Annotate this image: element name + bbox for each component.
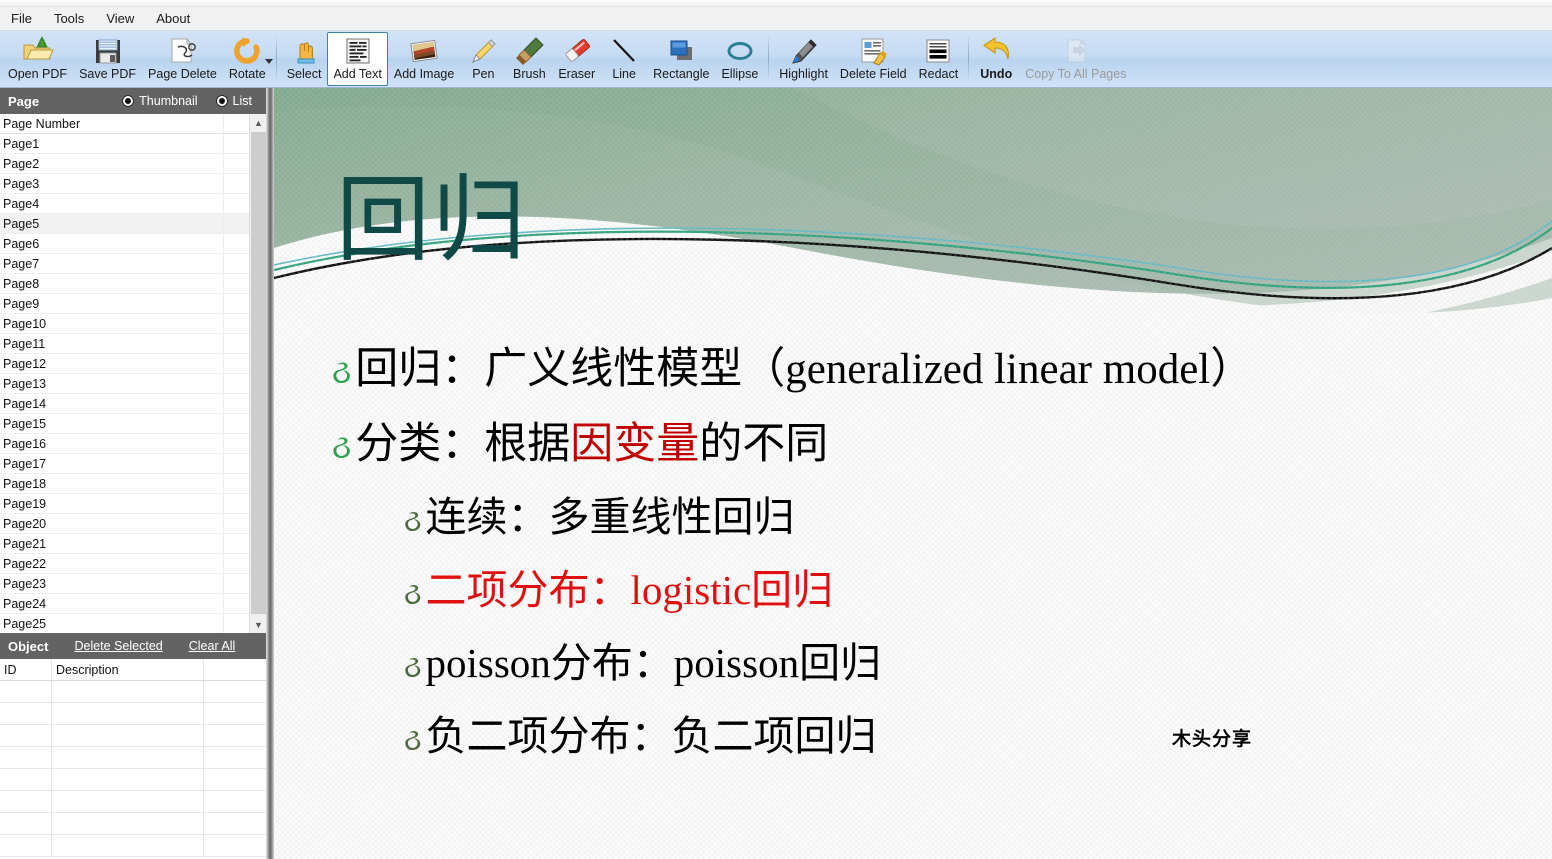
- page-list-cell: Page16: [3, 437, 46, 451]
- slide-bullet-line: ઠ二项分布：logistic回归: [332, 556, 1552, 629]
- page-list-cell-empty: [223, 594, 249, 614]
- toolbar-label: Page Delete: [148, 67, 217, 81]
- toolbar-label: Copy To All Pages: [1025, 67, 1126, 81]
- toolbar-button-rotate[interactable]: Rotate: [223, 32, 272, 86]
- toolbar-button-copy-to-all-pages: Copy To All Pages: [1019, 32, 1132, 86]
- page-list-cell-empty: [223, 534, 249, 554]
- page-list-cell: Page6: [3, 237, 39, 251]
- page-delete-icon: [165, 35, 199, 67]
- toolbar-label: Eraser: [558, 67, 595, 81]
- add-image-icon: [407, 35, 441, 67]
- object-table-cell: [52, 747, 204, 769]
- object-table-cell: [204, 725, 266, 747]
- object-table-cell: [52, 703, 204, 725]
- left-panel: Page Thumbnail List Page NumberPage1Page…: [0, 88, 266, 859]
- window-title-bar: [0, 0, 1552, 7]
- delete-field-icon: [856, 35, 890, 67]
- pen-icon: [466, 35, 500, 67]
- menu-item-view[interactable]: View: [95, 9, 145, 28]
- page-list-item-page5[interactable]: Page5: [0, 214, 249, 234]
- object-table-header-cell: ID: [0, 659, 52, 681]
- rotate-icon: [230, 35, 264, 67]
- page-list-cell: Page20: [3, 517, 46, 531]
- page-list-cell: Page13: [3, 377, 46, 391]
- bullet-ornament-icon: ઠ: [404, 487, 421, 556]
- object-panel-header: Object Delete Selected Clear All: [0, 633, 266, 659]
- object-table-row[interactable]: [0, 791, 266, 813]
- page-list-cell: Page19: [3, 497, 46, 511]
- object-table-header-cell: [204, 659, 266, 681]
- object-table-cell: [0, 791, 52, 813]
- slide-bullet-text: 因变量: [570, 408, 699, 481]
- slide-bullet-line: ઠ分类：根据因变量的不同: [332, 408, 1552, 483]
- page-list-item-page23[interactable]: Page23: [0, 574, 249, 594]
- line-icon: [607, 35, 641, 67]
- page-list-cell-empty: [223, 554, 249, 574]
- rectangle-icon: [664, 35, 698, 67]
- watermark-text: 木头分享: [1172, 724, 1252, 751]
- toolbar-button-select[interactable]: Select: [281, 32, 328, 86]
- object-table-cell: [52, 835, 204, 857]
- slide-body-list: ઠ回归：广义线性模型（generalized linear model）ઠ分类：…: [332, 333, 1552, 775]
- menu-item-about[interactable]: About: [145, 9, 201, 28]
- page-list-item-page25[interactable]: Page25: [0, 614, 249, 633]
- page-list-cell: Page10: [3, 317, 46, 331]
- object-table-cell: [52, 681, 204, 703]
- page-list-cell: Page23: [3, 577, 46, 591]
- page-list-cell-empty: [223, 274, 249, 294]
- page-list-cell: Page11: [3, 337, 45, 351]
- toolbar-button-page-delete[interactable]: Page Delete: [142, 32, 223, 86]
- page-list-cell: Page8: [3, 277, 39, 291]
- page-list-cell-empty: [223, 134, 249, 154]
- object-table-row[interactable]: [0, 703, 266, 725]
- highlighter-icon: [787, 35, 821, 67]
- page-panel-title: Page: [8, 94, 39, 109]
- object-table-cell: [52, 725, 204, 747]
- toolbar-button-highlight[interactable]: Highlight: [773, 32, 834, 86]
- bullet-ornament-icon: ઠ: [404, 633, 421, 702]
- toolbar-button-ellipse[interactable]: Ellipse: [715, 32, 764, 86]
- bullet-ornament-icon: ઠ: [332, 410, 351, 483]
- page-list-cell: Page18: [3, 477, 46, 491]
- scroll-up-icon[interactable]: ▲: [250, 114, 266, 131]
- page-list-cell: Page1: [3, 137, 39, 151]
- object-table-cell: [204, 813, 266, 835]
- toolbar-label: Add Image: [394, 67, 454, 81]
- copy-pages-icon: [1059, 35, 1093, 67]
- toolbar-button-undo[interactable]: Undo: [973, 32, 1019, 86]
- toolbar-label: Select: [287, 67, 322, 81]
- page-list-item-page13[interactable]: Page13: [0, 374, 249, 394]
- page-list-cell: Page24: [3, 597, 46, 611]
- object-table-cell: [52, 769, 204, 791]
- object-table-cell: [0, 725, 52, 747]
- page-list-cell: Page2: [3, 157, 39, 171]
- object-table-row[interactable]: [0, 725, 266, 747]
- scroll-down-icon[interactable]: ▼: [250, 616, 266, 633]
- page-list-cell-empty: [223, 234, 249, 254]
- undo-arrow-icon: [979, 35, 1013, 67]
- toolbar-label: Add Text: [333, 67, 381, 81]
- object-table-row[interactable]: [0, 747, 266, 769]
- page-list[interactable]: Page NumberPage1Page2Page3Page4Page5Page…: [0, 114, 249, 633]
- view-mode-list[interactable]: List: [216, 94, 252, 108]
- page-list-cell-empty: [223, 514, 249, 534]
- object-table-row[interactable]: [0, 835, 266, 857]
- page-list-cell: Page14: [3, 397, 46, 411]
- page-list-cell-empty: [223, 314, 249, 334]
- menu-item-file[interactable]: File: [0, 9, 43, 28]
- object-table-cell: [52, 813, 204, 835]
- toolbar-label: Brush: [513, 67, 546, 81]
- page-list-cell: Page21: [3, 537, 46, 551]
- menu-bar: FileToolsViewAbout: [0, 7, 1552, 31]
- page-list-item-page4[interactable]: Page4: [0, 194, 249, 214]
- toolbar-separator: [968, 34, 969, 82]
- toolbar-button-open-pdf[interactable]: Open PDF: [2, 32, 73, 86]
- toolbar-label: Delete Field: [840, 67, 907, 81]
- object-table-row[interactable]: [0, 813, 266, 835]
- page-list-item-page2[interactable]: Page2: [0, 154, 249, 174]
- toolbar-button-save-pdf[interactable]: Save PDF: [73, 32, 142, 86]
- toolbar-label: Redact: [919, 67, 959, 81]
- object-table[interactable]: IDDescription: [0, 659, 266, 859]
- object-table-cell: [204, 769, 266, 791]
- page-list-cell: Page7: [3, 257, 39, 271]
- page-list-cell: Page5: [3, 217, 39, 231]
- slide-bullet-text: poisson分布：poisson回归: [425, 629, 881, 698]
- page-list-cell-empty: [223, 374, 249, 394]
- pdf-page-viewer[interactable]: 回归 ઠ回归：广义线性模型（generalized linear model）ઠ…: [274, 88, 1552, 859]
- view-mode-thumbnail-label: Thumbnail: [139, 94, 197, 108]
- object-table-cell: [0, 835, 52, 857]
- toolbar-label: Save PDF: [79, 67, 136, 81]
- page-list-item-page19[interactable]: Page19: [0, 494, 249, 514]
- slide-bullet-text: 分类：根据: [355, 408, 570, 481]
- page-list-cell-empty: [223, 114, 249, 134]
- page-list-cell: Page12: [3, 357, 46, 371]
- brush-icon: [512, 35, 546, 67]
- view-mode-list-label: List: [233, 94, 252, 108]
- page-list-item-page15[interactable]: Page15: [0, 414, 249, 434]
- open-folder-icon: [21, 35, 55, 67]
- toolbar-button-brush[interactable]: Brush: [506, 32, 552, 86]
- page-list-cell-empty: [223, 434, 249, 454]
- object-table-row[interactable]: [0, 769, 266, 791]
- toolbar-button-pen[interactable]: Pen: [460, 32, 506, 86]
- hand-pointer-icon: [287, 35, 321, 67]
- page-list-item-page1[interactable]: Page1: [0, 134, 249, 154]
- object-table-cell: [204, 681, 266, 703]
- object-table-cell: [0, 813, 52, 835]
- toolbar-label: Rectangle: [653, 67, 709, 81]
- object-table-row[interactable]: [0, 681, 266, 703]
- page-list-scrollbar[interactable]: ▲ ▼: [249, 114, 266, 633]
- bullet-ornament-icon: ઠ: [404, 706, 421, 775]
- main-toolbar: Open PDFSave PDFPage DeleteRotateSelectA…: [0, 31, 1552, 88]
- slide-bullet-line: ઠ负二项分布：负二项回归: [332, 702, 1552, 775]
- scrollbar-thumb[interactable]: [251, 132, 266, 614]
- slide-bullet-text: 连续：多重线性回归: [425, 483, 794, 552]
- page-list-cell-empty: [223, 214, 249, 234]
- page-list-item-page11[interactable]: Page11: [0, 334, 249, 354]
- bullet-ornament-icon: ઠ: [404, 560, 421, 629]
- toolbar-separator: [276, 34, 277, 82]
- object-table-cell: [204, 747, 266, 769]
- page-list-cell: Page4: [3, 197, 39, 211]
- toolbar-label: Pen: [472, 67, 494, 81]
- redact-icon: [921, 35, 955, 67]
- page-list-item-page21[interactable]: Page21: [0, 534, 249, 554]
- page-list-item-page14[interactable]: Page14: [0, 394, 249, 414]
- object-table-cell: [0, 703, 52, 725]
- clear-all-link[interactable]: Clear All: [189, 639, 236, 653]
- page-list-cell-empty: [223, 174, 249, 194]
- page-list-cell: Page Number: [3, 117, 80, 131]
- add-text-icon: [341, 35, 375, 67]
- toolbar-separator: [768, 34, 769, 82]
- thumbnail-radio-icon[interactable]: [122, 95, 134, 107]
- page-list-cell: Page25: [3, 617, 46, 631]
- object-table-cell: [204, 835, 266, 857]
- slide-bullet-text: 的不同: [699, 408, 828, 481]
- toolbar-label: Rotate: [229, 67, 266, 81]
- object-table-cell: [0, 747, 52, 769]
- slide-bullet-line: ઠ回归：广义线性模型（generalized linear model）: [332, 333, 1552, 408]
- toolbar-label: Undo: [980, 67, 1012, 81]
- page-list-cell-empty: [223, 394, 249, 414]
- view-mode-thumbnail[interactable]: Thumbnail: [122, 94, 197, 108]
- page-list-item-page6[interactable]: Page6: [0, 234, 249, 254]
- page-list-item-page8[interactable]: Page8: [0, 274, 249, 294]
- toolbar-label: Open PDF: [8, 67, 67, 81]
- object-table-header-row: IDDescription: [0, 659, 266, 681]
- page-list-item-page20[interactable]: Page20: [0, 514, 249, 534]
- page-list-cell-empty: [223, 194, 249, 214]
- toolbar-label: Ellipse: [721, 67, 758, 81]
- page-list-cell: Page22: [3, 557, 46, 571]
- page-panel-header: Page Thumbnail List: [0, 88, 266, 114]
- page-list-item-page10[interactable]: Page10: [0, 314, 249, 334]
- slide-bullet-line: ઠpoisson分布：poisson回归: [332, 629, 1552, 702]
- page-list-item-page3[interactable]: Page3: [0, 174, 249, 194]
- page-list-item-page16[interactable]: Page16: [0, 434, 249, 454]
- toolbar-label: Line: [612, 67, 636, 81]
- slide-bullet-text: 二项分布：logistic回归: [425, 556, 833, 625]
- panel-splitter[interactable]: [266, 88, 274, 859]
- toolbar-button-delete-field[interactable]: Delete Field: [834, 32, 913, 86]
- page-list-column-header: Page Number: [0, 114, 249, 134]
- pdf-editor-window: FileToolsViewAbout Open PDFSave PDFPage …: [0, 0, 1552, 859]
- slide-bullet-line: ઠ连续：多重线性回归: [332, 483, 1552, 556]
- object-table-cell: [204, 703, 266, 725]
- delete-selected-link[interactable]: Delete Selected: [74, 639, 162, 653]
- page-list-cell-empty: [223, 154, 249, 174]
- page-list-cell-empty: [223, 254, 249, 274]
- pdf-page-canvas[interactable]: 回归 ઠ回归：广义线性模型（generalized linear model）ઠ…: [274, 88, 1552, 859]
- menu-item-tools[interactable]: Tools: [43, 9, 95, 28]
- slide-title: 回归: [336, 170, 528, 270]
- page-list-item-page24[interactable]: Page24: [0, 594, 249, 614]
- page-list-cell-empty: [223, 294, 249, 314]
- slide-bullet-text: 回归：广义线性模型（generalized linear model）: [355, 333, 1253, 406]
- slide-bullet-text: 负二项分布：负二项回归: [425, 702, 876, 771]
- toolbar-label: Highlight: [779, 67, 828, 81]
- toolbar-button-add-text[interactable]: Add Text: [327, 32, 387, 86]
- page-list-container: Page NumberPage1Page2Page3Page4Page5Page…: [0, 114, 266, 633]
- page-list-cell-empty: [223, 574, 249, 594]
- page-list-item-page17[interactable]: Page17: [0, 454, 249, 474]
- page-list-cell-empty: [223, 454, 249, 474]
- object-table-cell: [204, 791, 266, 813]
- toolbar-button-add-image[interactable]: Add Image: [388, 32, 460, 86]
- object-table-cell: [52, 791, 204, 813]
- page-list-cell-empty: [223, 334, 249, 354]
- page-list-cell: Page15: [3, 417, 46, 431]
- page-list-cell-empty: [223, 354, 249, 374]
- chevron-down-icon[interactable]: [265, 59, 273, 64]
- page-list-item-page22[interactable]: Page22: [0, 554, 249, 574]
- floppy-disk-icon: [91, 35, 125, 67]
- page-list-cell-empty: [223, 494, 249, 514]
- list-radio-icon[interactable]: [216, 95, 228, 107]
- object-table-cell: [0, 769, 52, 791]
- toolbar-button-redact[interactable]: Redact: [913, 32, 965, 86]
- eraser-icon: [560, 35, 594, 67]
- toolbar-button-line[interactable]: Line: [601, 32, 647, 86]
- page-list-item-page12[interactable]: Page12: [0, 354, 249, 374]
- toolbar-button-rectangle[interactable]: Rectangle: [647, 32, 715, 86]
- page-list-cell: Page17: [3, 457, 46, 471]
- page-list-cell-empty: [223, 474, 249, 494]
- page-list-cell-empty: [223, 614, 249, 633]
- page-list-cell: Page3: [3, 177, 39, 191]
- object-table-header-cell: Description: [52, 659, 204, 681]
- page-list-cell: Page9: [3, 297, 39, 311]
- page-list-cell-empty: [223, 414, 249, 434]
- page-list-item-page9[interactable]: Page9: [0, 294, 249, 314]
- toolbar-button-eraser[interactable]: Eraser: [552, 32, 601, 86]
- page-list-item-page18[interactable]: Page18: [0, 474, 249, 494]
- bullet-ornament-icon: ઠ: [332, 335, 351, 408]
- object-table-cell: [0, 681, 52, 703]
- page-list-item-page7[interactable]: Page7: [0, 254, 249, 274]
- ellipse-icon: [723, 35, 757, 67]
- object-panel-title: Object: [8, 639, 48, 654]
